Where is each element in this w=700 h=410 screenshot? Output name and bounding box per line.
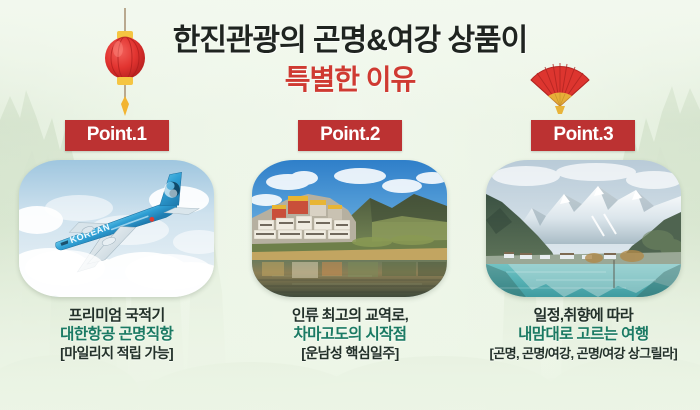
point-badge-1: Point.1: [65, 120, 169, 151]
point-card-1[interactable]: Point.1: [0, 120, 233, 390]
point-badge-3: Point.3: [531, 120, 635, 151]
songzanlin-monastery-illustration: [252, 160, 447, 297]
caption-2: 인류 최고의 교역로, 차마고도의 시작점 [운남성 핵심일주]: [292, 306, 408, 363]
photo-monastery: [252, 160, 447, 297]
point-cards: Point.1: [0, 120, 700, 390]
lantern-icon: [104, 8, 146, 116]
caption-3: 일정,취향에 따라 내맘대로 고르는 여행 [곤명, 곤명/여강, 곤명/여강 …: [490, 306, 678, 363]
point-card-2[interactable]: Point.2: [233, 120, 466, 390]
snow-mountain-lake-illustration: [486, 160, 681, 297]
caption-2-line-1: 인류 최고의 교역로,: [292, 306, 408, 325]
caption-1-line-3: [마일리지 적립 가능]: [60, 344, 173, 363]
caption-1-line-1: 프리미엄 국적기: [60, 306, 173, 325]
promo-banner: 한진관광의 곤명&여강 상품이 특별한 이유 Point.1: [0, 0, 700, 410]
caption-3-line-3: [곤명, 곤명/여강, 곤명/여강 상그릴라]: [490, 344, 678, 363]
photo-airplane: KOREAN: [19, 160, 214, 297]
caption-1: 프리미엄 국적기 대한항공 곤명직항 [마일리지 적립 가능]: [60, 306, 173, 363]
folding-fan-icon: [528, 58, 592, 118]
caption-3-line-1: 일정,취향에 따라: [490, 306, 678, 325]
point-badge-2: Point.2: [298, 120, 402, 151]
photo-snow-mountain: [486, 160, 681, 297]
korean-air-plane-illustration: KOREAN: [19, 160, 214, 297]
caption-1-line-2: 대한항공 곤명직항: [60, 325, 173, 344]
caption-3-line-2: 내맘대로 고르는 여행: [490, 325, 678, 344]
point-card-3[interactable]: Point.3: [467, 120, 700, 390]
caption-2-line-3: [운남성 핵심일주]: [292, 344, 408, 363]
caption-2-line-2: 차마고도의 시작점: [292, 325, 408, 344]
